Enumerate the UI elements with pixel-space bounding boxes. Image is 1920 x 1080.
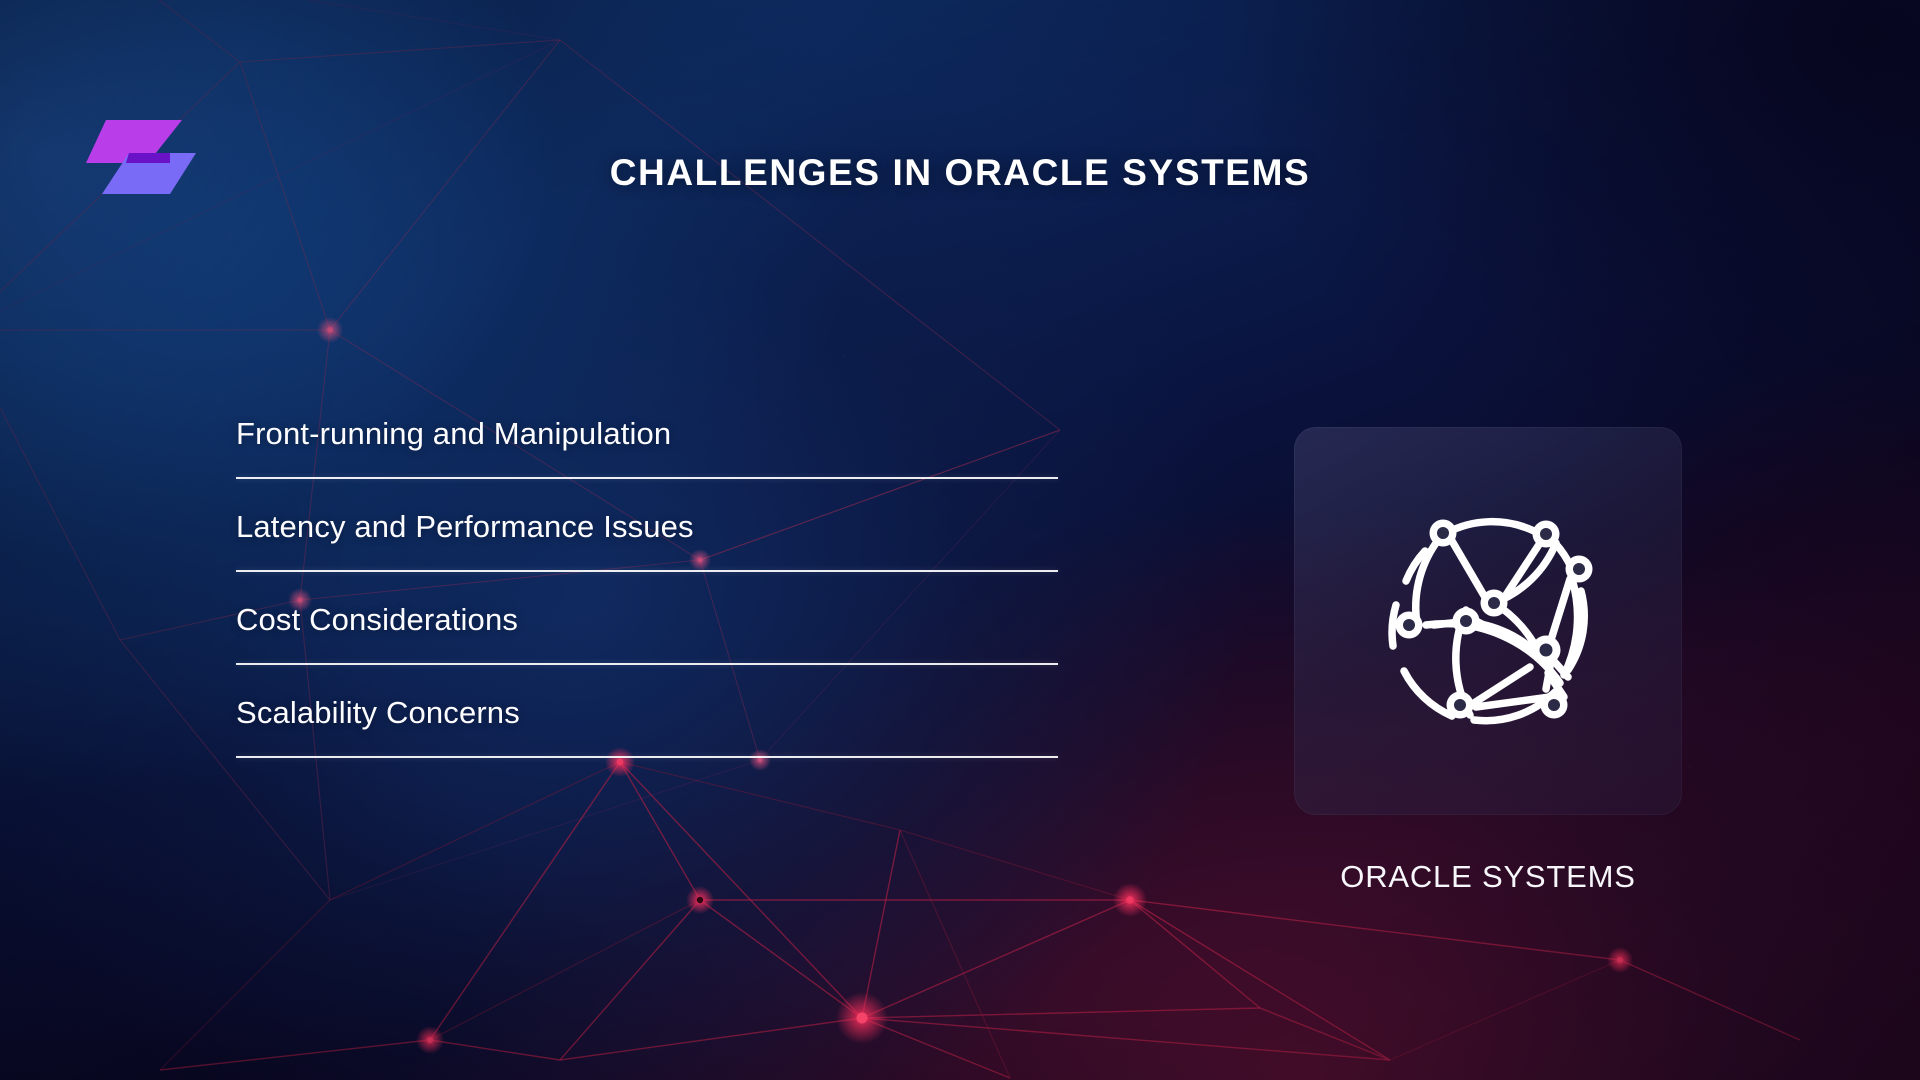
list-item-divider	[236, 477, 1058, 479]
list-item-divider	[236, 756, 1058, 758]
slide-root: CHALLENGES IN ORACLE SYSTEMS Front-runni…	[0, 0, 1920, 1080]
list-item[interactable]: Front-running and Manipulation	[236, 418, 1058, 479]
list-item-divider	[236, 663, 1058, 665]
feature-caption: ORACLE SYSTEMS	[1294, 859, 1682, 895]
list-item[interactable]: Scalability Concerns	[236, 697, 1058, 758]
list-item-label: Front-running and Manipulation	[236, 418, 1058, 449]
feature-panel: ORACLE SYSTEMS	[1294, 427, 1682, 895]
list-item-label: Cost Considerations	[236, 604, 1058, 635]
list-item[interactable]: Latency and Performance Issues	[236, 511, 1058, 572]
list-item-divider	[236, 570, 1058, 572]
list-item-label: Latency and Performance Issues	[236, 511, 1058, 542]
list-item-label: Scalability Concerns	[236, 697, 1058, 728]
list-item[interactable]: Cost Considerations	[236, 604, 1058, 665]
feature-card[interactable]	[1294, 427, 1682, 815]
network-globe-icon	[1374, 507, 1602, 735]
page-title: CHALLENGES IN ORACLE SYSTEMS	[0, 152, 1920, 194]
challenge-list: Front-running and Manipulation Latency a…	[236, 418, 1058, 790]
